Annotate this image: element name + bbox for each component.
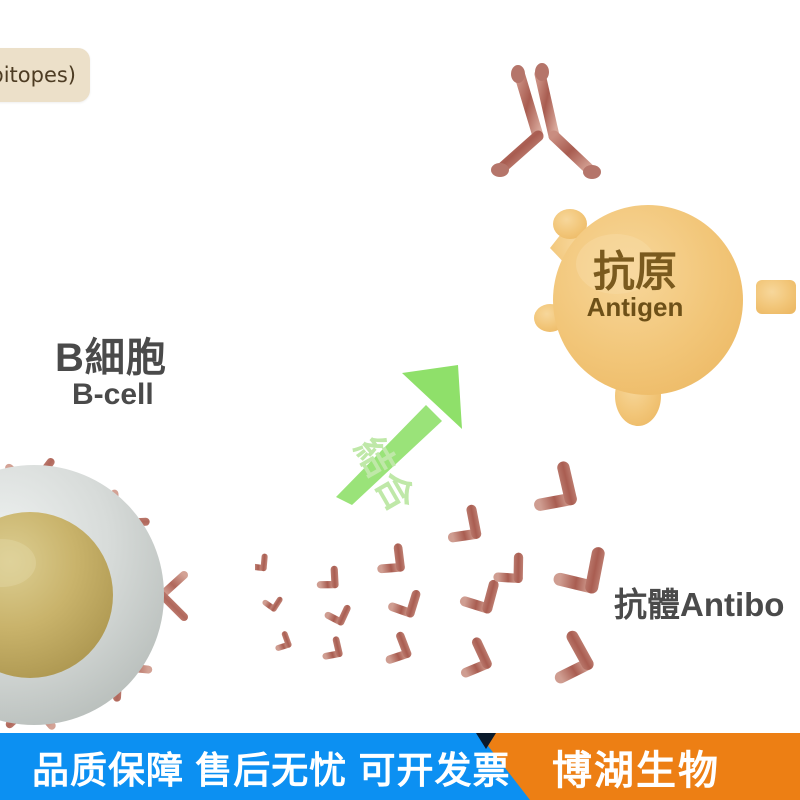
bound-antibody-graphic — [480, 48, 610, 198]
epitope-label-chip: Epitopes) — [0, 48, 90, 102]
bcell-label-cn: B細胞 — [55, 325, 167, 383]
bcell-graphic — [0, 455, 280, 755]
antibody-swarm-svg — [255, 455, 675, 695]
banner-promo-text: 品质保障 售后无忧 可开发票 — [32, 740, 511, 794]
antibody-units — [255, 468, 631, 692]
bottom-banner: 品质保障 售后无忧 可开发票 博湖生物 — [0, 733, 800, 800]
antibody-swarm — [255, 455, 675, 695]
antigen-label-cn: 抗原 — [560, 238, 710, 299]
antibody-label: 抗體Antibo — [614, 578, 784, 626]
diagram-canvas: Epitopes) 抗原 — [0, 0, 800, 800]
bcell-svg — [0, 455, 280, 755]
antigen-label-en: Antigen — [560, 292, 710, 323]
banner-brand-name: 博湖生物 — [552, 738, 720, 796]
epitope-label-text: Epitopes) — [0, 63, 76, 87]
bcell-label-en: B-cell — [72, 378, 154, 412]
